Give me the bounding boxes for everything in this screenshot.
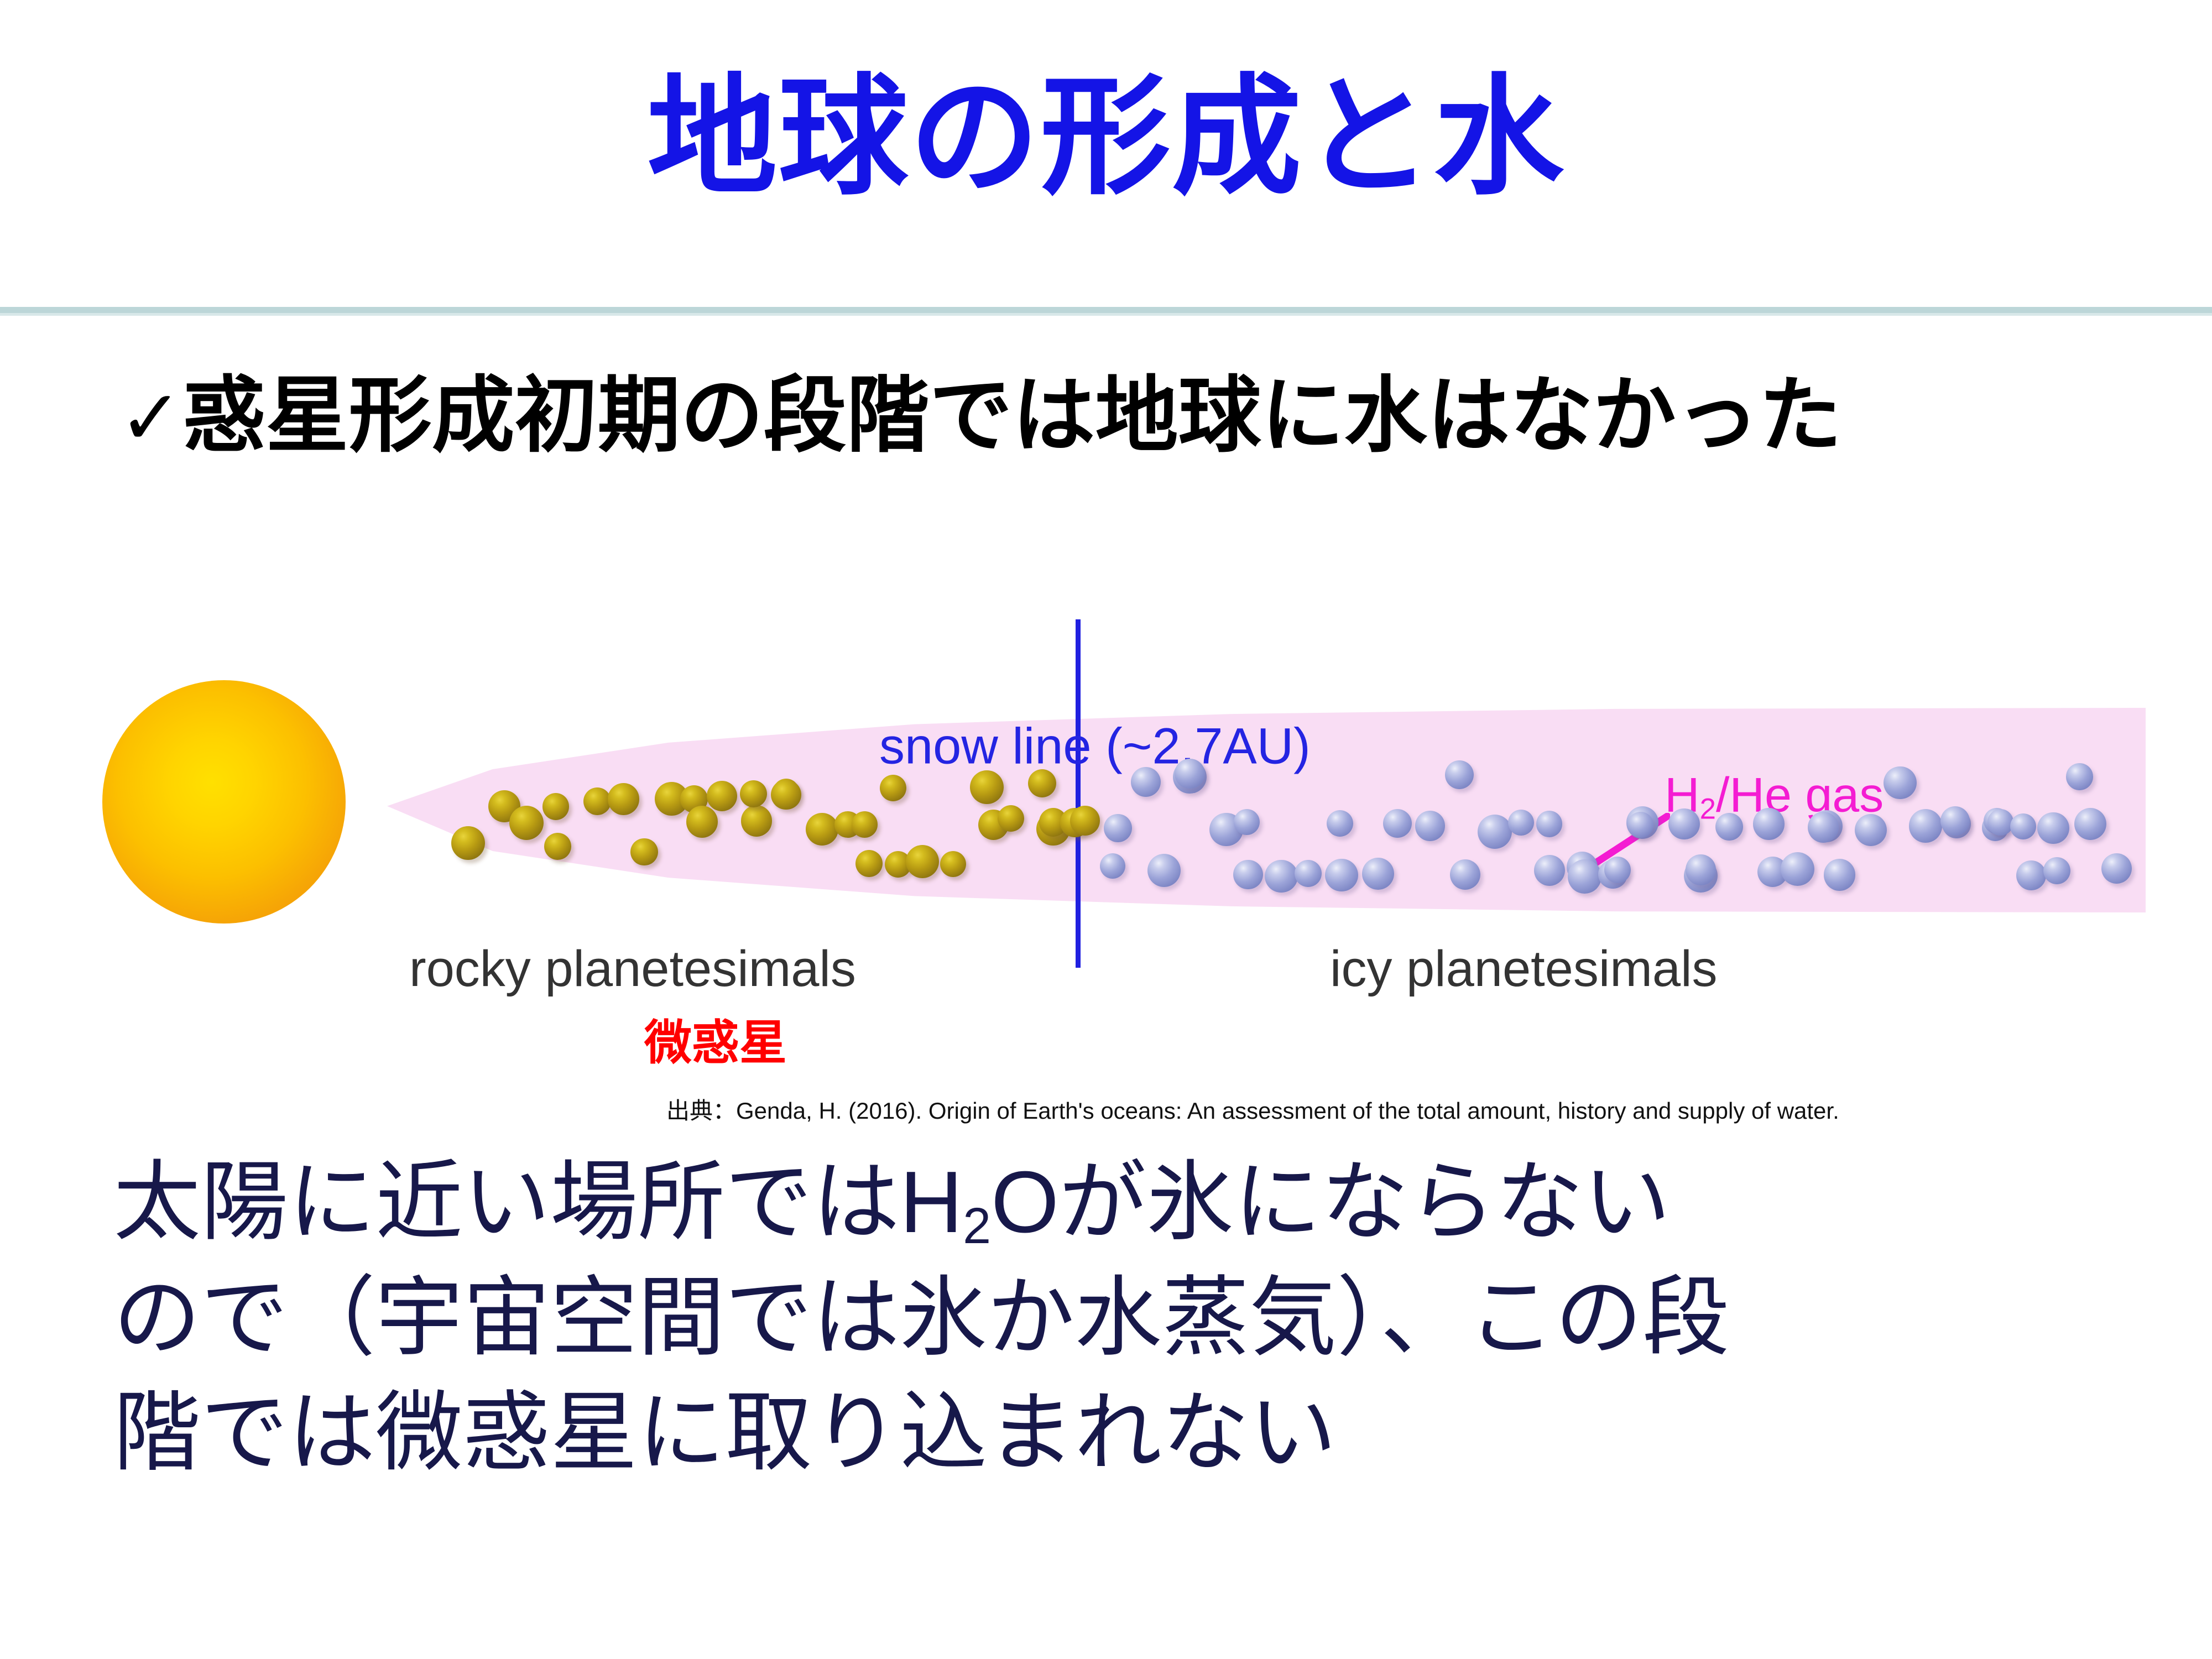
rocky-planetesimal-particle (806, 813, 838, 846)
title-divider-shadow (0, 313, 2212, 316)
icy-planetesimal-particle (1478, 815, 1512, 849)
icy-planetesimal-particle (2010, 813, 2036, 839)
bullet-point: ✓惑星形成初期の段階では地球に水はなかった (119, 359, 1842, 472)
bullet-text: 惑星形成初期の段階では地球に水はなかった (183, 369, 1842, 462)
title-divider (0, 307, 2212, 313)
sun-icon (102, 680, 346, 924)
rocky-planetesimal-particle (880, 775, 906, 801)
rocky-planetesimal-particle (1070, 806, 1100, 836)
icy-planetesimal-particle (2074, 808, 2106, 840)
gas-label-tail: /He gas (1716, 767, 1884, 822)
icy-planetesimal-particle (1147, 854, 1181, 887)
icy-planetesimals-label: icy planetesimals (1330, 940, 1718, 998)
rocky-planetesimal-particle (940, 851, 966, 877)
icy-planetesimal-particle (1781, 852, 1814, 886)
rocky-planetesimal-particle (998, 805, 1024, 832)
icy-planetesimal-particle (1508, 810, 1534, 836)
icy-planetesimal-particle (1445, 760, 1474, 789)
icy-planetesimal-particle (1824, 859, 1856, 891)
rocky-planetesimal-particle (630, 838, 658, 866)
rocky-planetesimal-particle (509, 806, 544, 840)
icy-planetesimal-particle (1855, 814, 1887, 847)
icy-planetesimal-particle (1325, 859, 1358, 891)
icy-planetesimal-particle (1131, 767, 1161, 797)
icy-planetesimal-particle (1909, 809, 1943, 843)
icy-planetesimal-particle (1534, 855, 1565, 886)
icy-planetesimal-particle (1715, 813, 1743, 841)
icy-planetesimal-particle (1753, 808, 1785, 839)
gas-label-subscript: 2 (1700, 793, 1716, 826)
icy-planetesimal-particle (1987, 809, 2014, 836)
icy-planetesimal-particle (2066, 763, 2093, 790)
rocky-planetesimal-particle (542, 793, 570, 820)
rocky-planetesimal-particle (855, 850, 883, 877)
icy-planetesimal-particle (1295, 860, 1322, 887)
rocky-planetesimal-particle (608, 783, 640, 815)
rocky-planetesimal-particle (771, 780, 801, 810)
checkmark-icon: ✓ (119, 375, 183, 461)
paragraph-line-1-subscript: 2 (963, 1198, 991, 1254)
icy-planetesimal-particle (1884, 766, 1916, 799)
icy-planetesimal-particle (1327, 810, 1353, 837)
icy-planetesimal-particle (1808, 812, 1839, 843)
paragraph-line-1a: 太陽に近い場所ではH (113, 1154, 963, 1251)
icy-planetesimal-particle (1536, 811, 1563, 837)
protoplanetary-disk-diagram: snow line (~2.7AU) H2/He gas rocky plane… (0, 531, 2212, 1134)
snow-line-label: snow line (~2.7AU) (879, 718, 1311, 776)
icy-planetesimal-particle (1415, 811, 1445, 841)
source-citation: 出典：Genda, H. (2016). Origin of Earth's o… (666, 1092, 1839, 1126)
rocky-planetesimal-particle (741, 805, 773, 837)
rocky-planetesimal-particle (544, 833, 571, 860)
icy-planetesimal-particle (1940, 806, 1970, 836)
icy-planetesimal-particle (1604, 857, 1631, 883)
rocky-planetesimal-particle (906, 845, 939, 878)
icy-planetesimal-particle (1627, 812, 1653, 838)
icy-planetesimal-particle (1104, 814, 1132, 842)
body-paragraph: 太陽に近い場所ではH2Oが氷にならない ので（宇宙空間では氷か水蒸気）、この段 … (113, 1145, 2159, 1491)
paragraph-line-3: 階では微惑星に取り込まれない (113, 1375, 2159, 1491)
rocky-planetesimal-particle (970, 770, 1004, 804)
paragraph-line-1: 太陽に近い場所ではH2Oが氷にならない (113, 1145, 2159, 1260)
icy-planetesimal-particle (1175, 759, 1205, 789)
slide-root: 地球の形成と水 ✓惑星形成初期の段階では地球に水はなかった snow line … (0, 0, 2212, 1659)
rocky-planetesimals-label: rocky planetesimals (409, 940, 856, 998)
rocky-planetesimal-particle (686, 806, 718, 838)
paragraph-line-2: ので（宇宙空間では氷か水蒸気）、この段 (113, 1260, 2159, 1376)
icy-planetesimal-particle (1450, 859, 1480, 890)
rocky-planetesimal-particle (740, 780, 767, 807)
icy-planetesimal-particle (1362, 858, 1394, 890)
paragraph-line-1b: Oが氷にならない (991, 1154, 1671, 1251)
icy-planetesimal-particle (1568, 859, 1602, 894)
icy-planetesimal-particle (1265, 860, 1298, 893)
snow-line-marker (1076, 619, 1081, 968)
icy-planetesimal-particle (1233, 860, 1262, 889)
icy-planetesimal-particle (1668, 808, 1699, 839)
page-title: 地球の形成と水 (0, 72, 2212, 202)
icy-planetesimal-particle (2037, 812, 2069, 844)
icy-planetesimal-particle (1383, 809, 1412, 838)
biwakusei-annotation: 微惑星 (644, 1004, 787, 1073)
icy-planetesimal-particle (1234, 809, 1260, 835)
rocky-planetesimal-particle (451, 826, 485, 860)
